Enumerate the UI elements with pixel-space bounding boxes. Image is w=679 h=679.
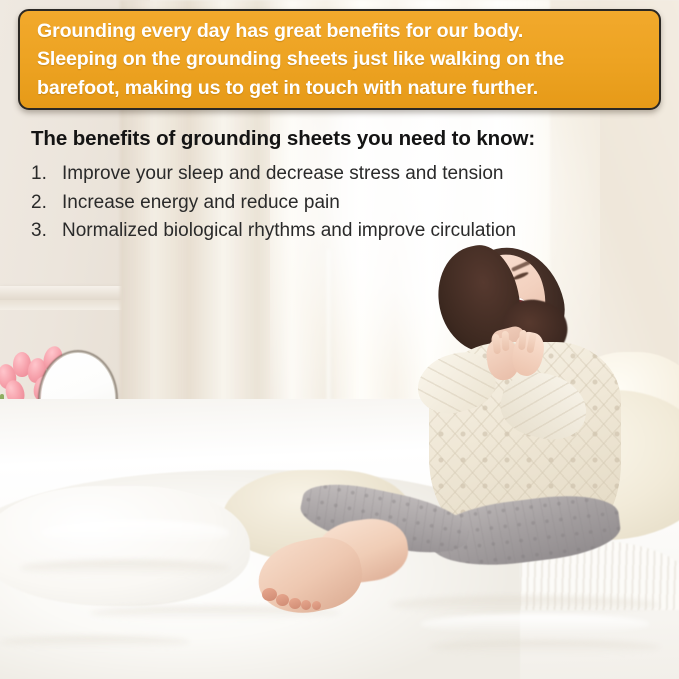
banner-line-1: Grounding every day has great benefits f… — [37, 17, 564, 46]
sheet-highlight — [420, 614, 650, 634]
orange-callout-banner: Grounding every day has great benefits f… — [18, 9, 661, 110]
list-item-label: Improve your sleep and decrease stress a… — [62, 160, 651, 189]
banner-line-3: barefoot, making us to get in touch with… — [37, 74, 564, 103]
pillow-white-left — [0, 486, 250, 606]
banner-line-2: Sleeping on the grounding sheets just li… — [37, 45, 564, 74]
wall-molding-upper — [0, 286, 122, 300]
list-item: 2. Increase energy and reduce pain — [31, 189, 651, 218]
list-item: 1. Improve your sleep and decrease stres… — [31, 160, 651, 189]
toe — [289, 598, 301, 609]
sheet-highlight — [40, 520, 230, 546]
list-item-label: Normalized biological rhythms and improv… — [62, 217, 651, 246]
list-item: 3. Normalized biological rhythms and imp… — [31, 217, 651, 246]
wall-molding-lower — [0, 300, 122, 310]
list-item-number: 3. — [31, 217, 62, 246]
toe — [312, 601, 321, 610]
list-item-label: Increase energy and reduce pain — [62, 189, 651, 218]
list-item-number: 2. — [31, 189, 62, 218]
toe — [301, 600, 311, 610]
sheet-fold — [0, 636, 190, 648]
banner-text: Grounding every day has great benefits f… — [20, 17, 582, 103]
sheet-fold — [390, 596, 660, 614]
benefits-list: 1. Improve your sleep and decrease stres… — [31, 160, 651, 246]
page-title: The benefits of grounding sheets you nee… — [31, 127, 535, 151]
toe — [276, 594, 289, 606]
toe — [262, 588, 277, 601]
sheet-fold — [20, 560, 230, 576]
list-item-number: 1. — [31, 160, 62, 189]
finger — [502, 331, 510, 351]
sheet-fold — [430, 640, 660, 654]
